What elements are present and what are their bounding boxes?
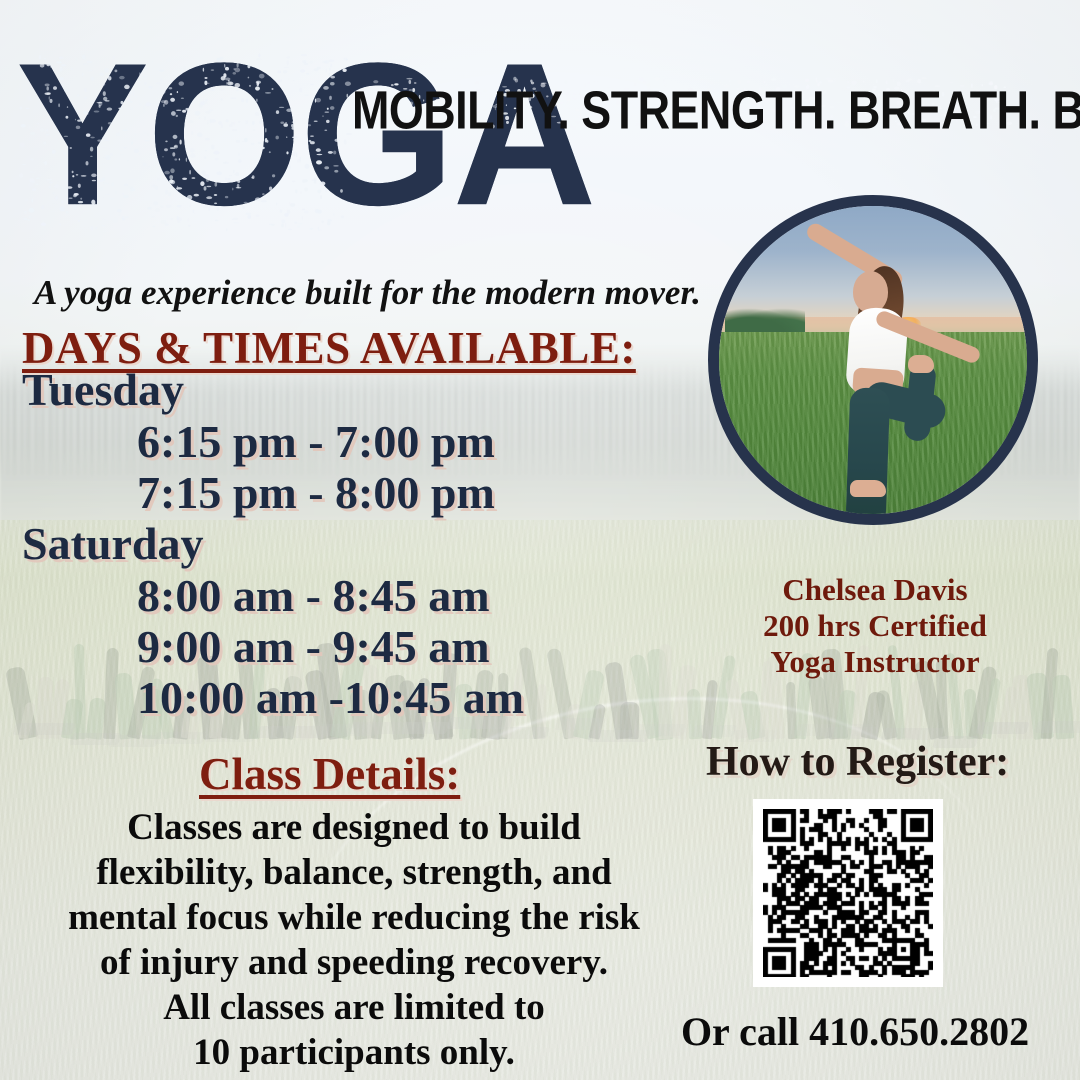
schedule-time-slot: 8:00 am - 8:45 am <box>0 570 640 621</box>
instructor-name: Chelsea Davis <box>705 572 1045 608</box>
subtitle: A yoga experience built for the modern m… <box>34 273 701 313</box>
class-details-body: Classes are designed to build flexibilit… <box>14 805 694 1075</box>
class-details-heading: Class Details: <box>199 748 460 800</box>
figure-standing-leg <box>846 387 891 520</box>
schedule-day-name: Tuesday <box>0 364 640 416</box>
schedule-time-slot: 9:00 am - 9:45 am <box>0 621 640 672</box>
qr-code-icon[interactable] <box>763 809 933 977</box>
figure-back-foot <box>908 355 934 373</box>
figure-back-shin <box>903 362 937 442</box>
photo-yoga-figure <box>719 206 1027 514</box>
class-details-line: mental focus while reducing the risk <box>14 895 694 940</box>
schedule-time-slot: 7:15 pm - 8:00 pm <box>0 467 640 518</box>
instructor-role: Yoga Instructor <box>705 644 1045 680</box>
instructor-caption: Chelsea Davis 200 hrs Certified Yoga Ins… <box>705 572 1045 680</box>
yoga-class-flyer: YOGA MOBILITY. STRENGTH. BREATH. BALANCE… <box>0 0 1080 1080</box>
schedule-time-slot: 6:15 pm - 7:00 pm <box>0 416 640 467</box>
instructor-photo <box>708 195 1038 525</box>
register-heading: How to Register: <box>706 738 1009 786</box>
schedule-day-name: Saturday <box>0 518 640 570</box>
tagline: MOBILITY. STRENGTH. BREATH. BALANCE <box>352 82 1080 141</box>
class-details-line: Classes are designed to build <box>14 805 694 850</box>
figure-head <box>853 271 888 313</box>
class-details-line: All classes are limited to <box>14 985 694 1030</box>
class-details-line: 10 participants only. <box>14 1030 694 1075</box>
figure-standing-foot <box>850 480 886 497</box>
schedule-list: Tuesday 6:15 pm - 7:00 pm 7:15 pm - 8:00… <box>0 364 640 723</box>
schedule-time-slot: 10:00 am -10:45 am <box>0 672 640 723</box>
instructor-credential: 200 hrs Certified <box>705 608 1045 644</box>
class-details-line: of injury and speeding recovery. <box>14 940 694 985</box>
qr-code[interactable] <box>753 799 943 987</box>
class-details-line: flexibility, balance, strength, and <box>14 850 694 895</box>
phone-number: Or call 410.650.2802 <box>640 1008 1070 1055</box>
